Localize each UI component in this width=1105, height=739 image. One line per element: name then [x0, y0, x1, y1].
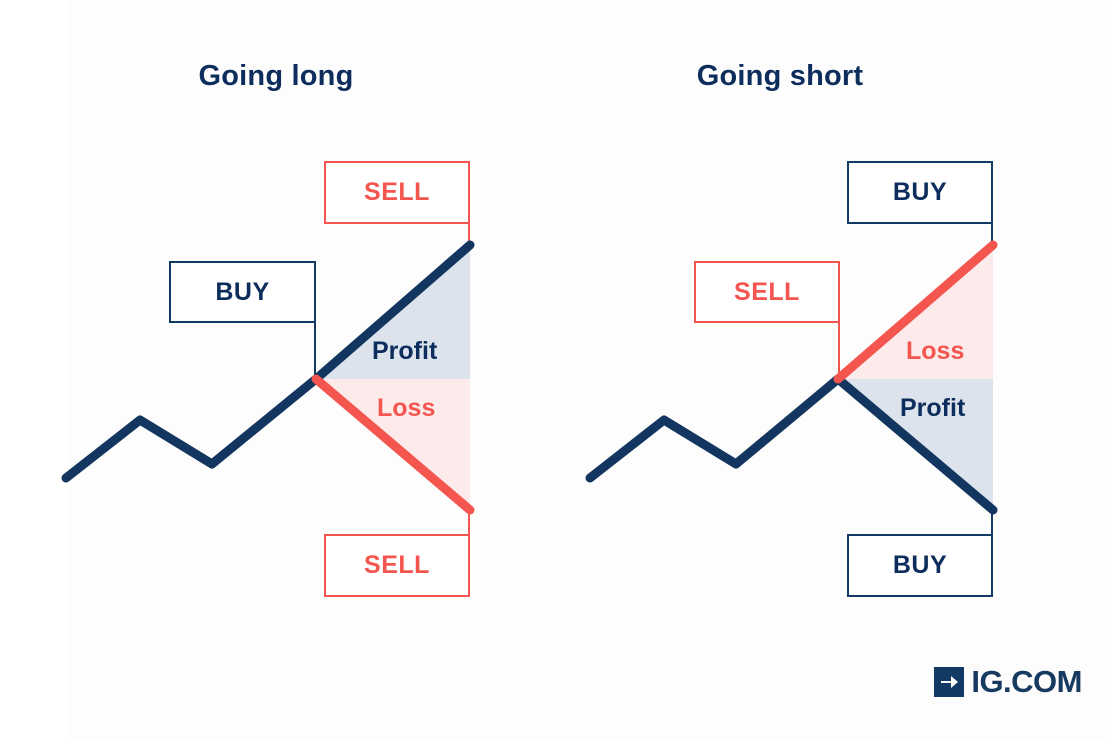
going-long-graphic — [0, 0, 552, 739]
going-short-graphic — [524, 0, 1105, 739]
buy-tag-bottom[interactable]: BUY — [847, 534, 993, 597]
chart-going-long: Going long SELL BUY SELL Profit — [0, 0, 552, 739]
brand-name: IG.COM — [971, 666, 1082, 697]
sell-tag-entry[interactable]: SELL — [694, 261, 840, 323]
buy-tag-top-label: BUY — [893, 178, 947, 207]
loss-region-label: Loss — [377, 394, 435, 423]
buy-tag-entry-label: BUY — [215, 278, 269, 307]
chart-going-short: Going short BUY SELL BUY Loss — [524, 0, 1076, 739]
diagram-canvas: Going long SELL BUY SELL Profit — [0, 0, 1105, 739]
sell-tag-top[interactable]: SELL — [324, 161, 470, 224]
buy-tag-entry[interactable]: BUY — [169, 261, 316, 323]
brand-logo: IG.COM — [934, 666, 1082, 697]
profit-region-label: Profit — [372, 337, 437, 366]
loss-region-label: Loss — [906, 337, 964, 366]
sell-tag-top-label: SELL — [364, 178, 430, 207]
buy-tag-bottom-label: BUY — [893, 551, 947, 580]
buy-tag-top[interactable]: BUY — [847, 161, 993, 224]
arrow-head — [951, 676, 958, 688]
sell-tag-entry-label: SELL — [734, 278, 800, 307]
profit-region-label: Profit — [900, 394, 965, 423]
sell-tag-bottom-label: SELL — [364, 551, 430, 580]
sell-tag-bottom[interactable]: SELL — [324, 534, 470, 597]
arrow-right-icon — [934, 667, 964, 697]
